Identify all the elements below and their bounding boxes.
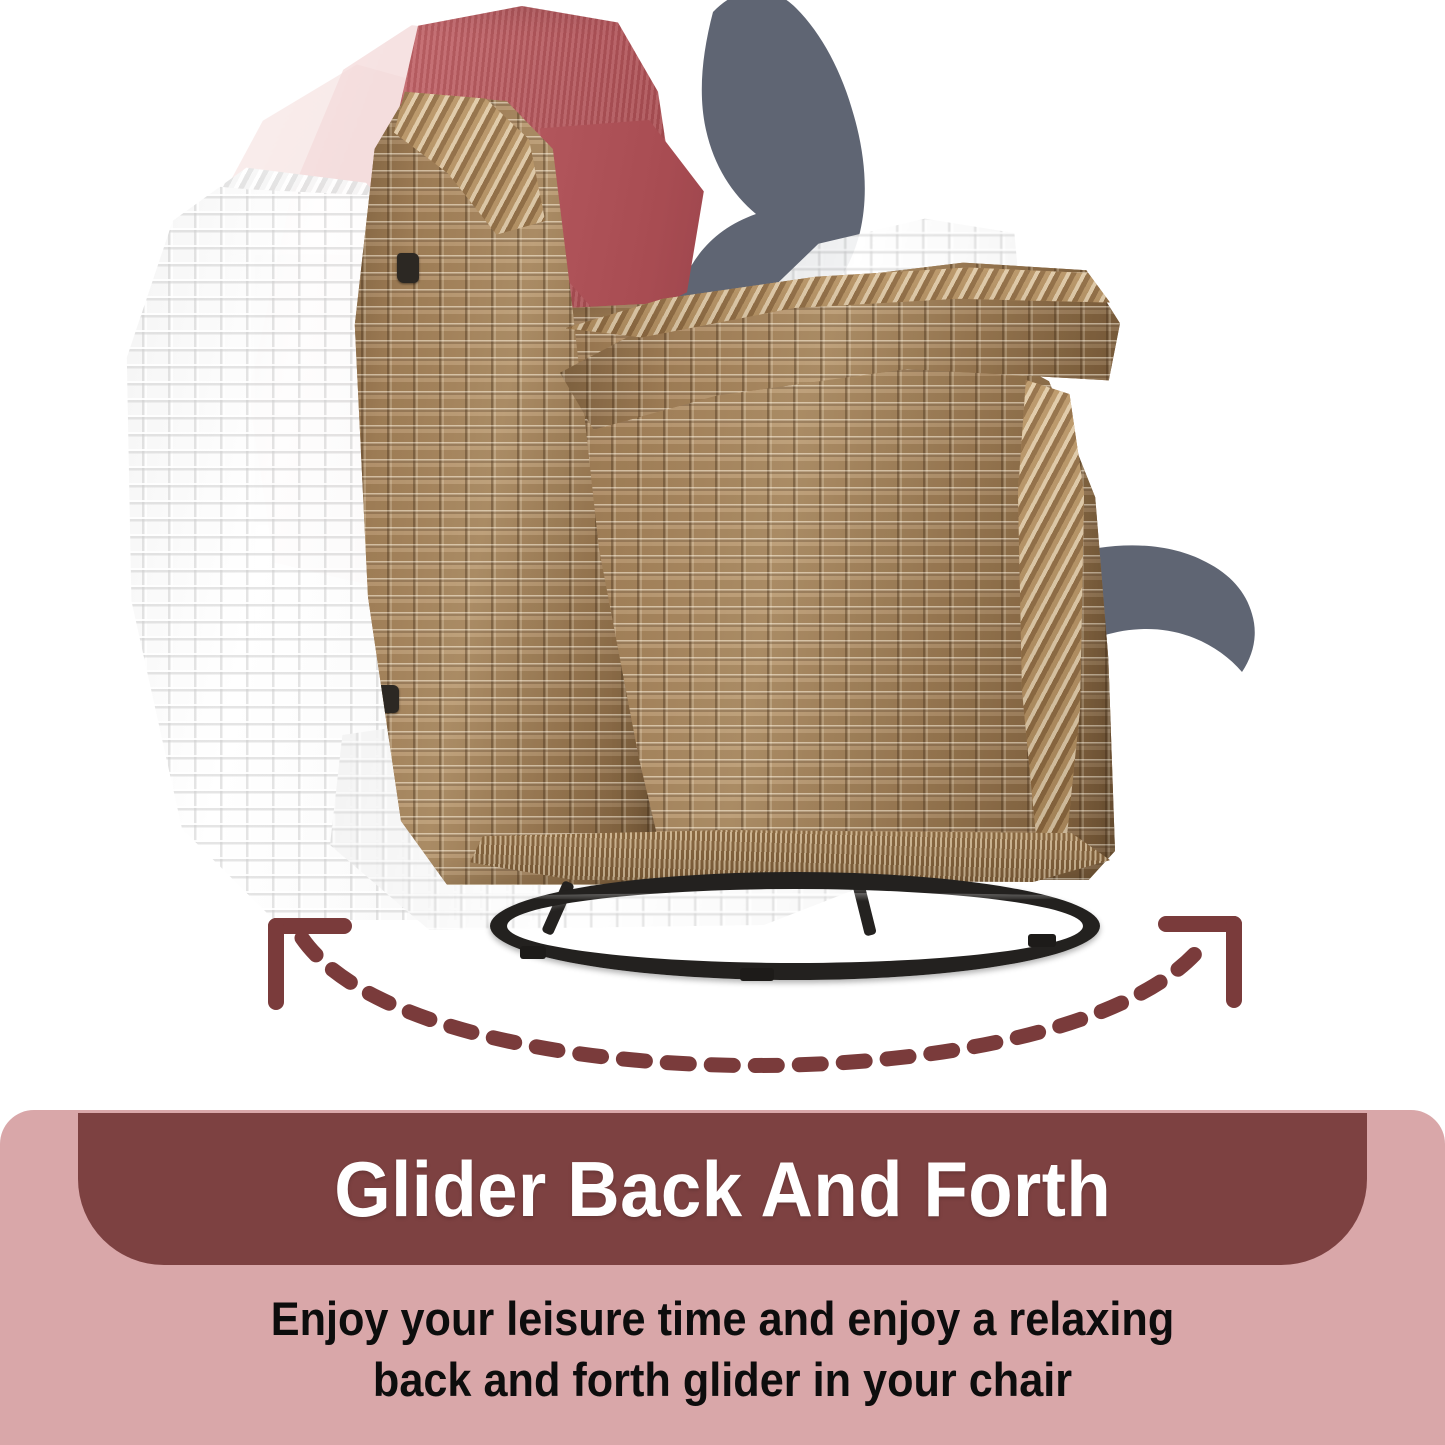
feature-description: Enjoy your leisure time and enjoy a rela… — [0, 1288, 1445, 1410]
feature-description-line-1: Enjoy your leisure time and enjoy a rela… — [58, 1288, 1387, 1349]
glide-arc-dashed — [302, 938, 1208, 1066]
headline-pill: Glider Back And Forth — [78, 1113, 1367, 1265]
feature-banner: Glider Back And Forth Enjoy your leisure… — [0, 1110, 1445, 1445]
product-photo — [0, 0, 1445, 1110]
back-and-forth-glide-arrow — [240, 890, 1270, 1105]
page-title: Glider Back And Forth — [334, 1150, 1111, 1228]
feature-description-line-2: back and forth glider in your chair — [58, 1349, 1387, 1410]
product-feature-image: Glider Back And Forth Enjoy your leisure… — [0, 0, 1445, 1445]
rivet-upper — [397, 253, 419, 283]
